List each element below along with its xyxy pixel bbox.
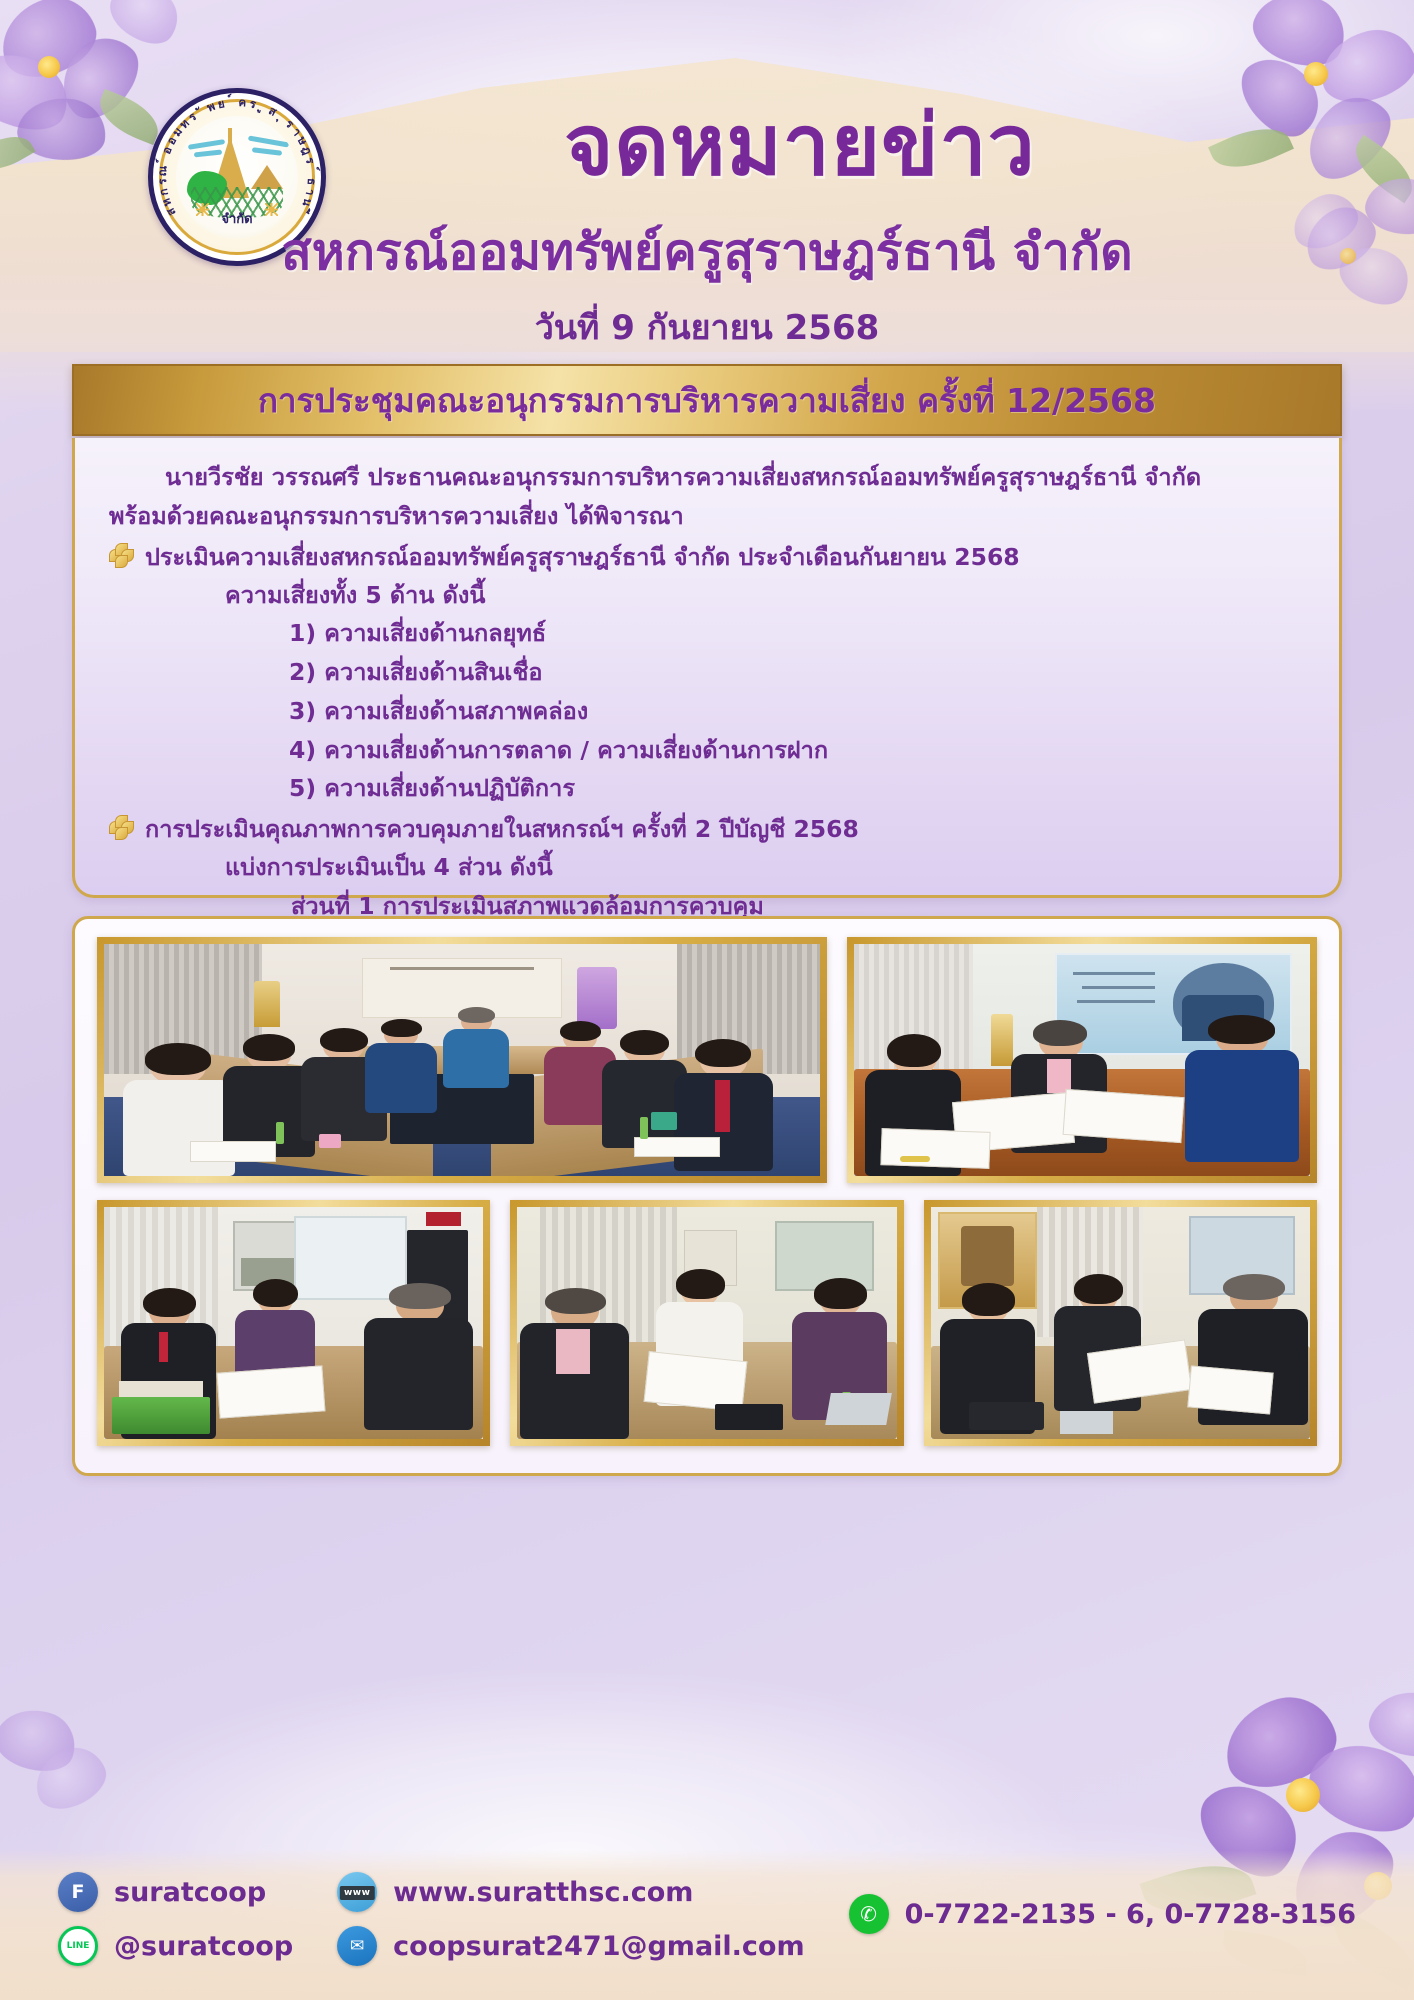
publication-date: วันที่ 9 กันยายน 2568: [80, 300, 1334, 354]
photo-review-right: [924, 1200, 1317, 1446]
website-url: www.suratthsc.com: [393, 1877, 693, 1908]
email-contact[interactable]: ✉ coopsurat2471@gmail.com: [337, 1926, 804, 1966]
risk-item: 3) ความเสี่ยงด้านสภาพคล่อง: [109, 692, 1305, 731]
logo-arc-char: ร: [248, 95, 258, 114]
risk-item: 2) ความเสี่ยงด้านสินเชื่อ: [109, 653, 1305, 692]
line-icon: LINE: [58, 1926, 98, 1966]
intro-line-1: นายวีรชัย วรรณศรี ประธานคณะอนุกรรมการบริ…: [109, 458, 1305, 497]
newsletter-page: จำกัด สหกรณ์ออมทรัพย์ครูสุราษฎร์ธานี สหก…: [0, 0, 1414, 2000]
risk-item: 1) ความเสี่ยงด้านกลยุทธ์: [109, 614, 1305, 653]
footer-contact-bar: F suratcoop LINE @suratcoop www www.sura…: [0, 1850, 1414, 2000]
phone-icon: ✆: [849, 1894, 889, 1934]
logo-arc-char: ค: [238, 94, 247, 113]
gold-diamond-bullet-icon: [109, 543, 135, 569]
telephone-contact[interactable]: ✆ 0-7722-2135 - 6, 0-7728-3156: [849, 1894, 1356, 1934]
logo-arc-char: ์: [156, 159, 174, 163]
photo-signing-desk: [847, 937, 1317, 1183]
facebook-contact[interactable]: F suratcoop: [58, 1872, 293, 1912]
logo-arc-char: ย: [216, 95, 226, 114]
logo-arc-char: ์: [231, 94, 232, 112]
headline-bar: การประชุมคณะอนุกรรมการบริหารความเสี่ยง ค…: [72, 364, 1342, 436]
headline-text: การประชุมคณะอนุกรรมการบริหารความเสี่ยง ค…: [258, 374, 1156, 427]
email-address: coopsurat2471@gmail.com: [393, 1931, 804, 1962]
logo-arc-char: ี: [294, 208, 310, 216]
logo-arc-char: น: [297, 195, 317, 209]
section-2-bullet-row: การประเมินคุณภาพการควบคุมภายในสหกรณ์ฯ คร…: [109, 810, 1305, 848]
organization-name: สหกรณ์ออมทรัพย์ครูสุราษฎร์ธานี จำกัด: [80, 222, 1334, 282]
logo-arc-char: ส: [265, 102, 280, 121]
photo-review-left: [97, 1200, 490, 1446]
facebook-icon: F: [58, 1872, 98, 1912]
globe-icon: www: [337, 1872, 377, 1912]
logo-arc-char: ณ: [154, 165, 173, 177]
gallery-row-top: [97, 937, 1317, 1183]
facebook-handle: suratcoop: [114, 1877, 266, 1908]
logo-arc-char: พ: [205, 98, 218, 118]
envelope-icon: ✉: [337, 1926, 377, 1966]
gold-diamond-bullet-icon: [109, 815, 135, 841]
section-1-bullet-row: ประเมินความเสี่ยงสหกรณ์ออมทรัพย์ครูสุราษ…: [109, 538, 1305, 576]
photo-gallery: [72, 916, 1342, 1476]
line-handle: @suratcoop: [114, 1931, 293, 1962]
www-label: www: [340, 1886, 374, 1900]
line-contact[interactable]: LINE @suratcoop: [58, 1926, 293, 1966]
section-2-heading: การประเมินคุณภาพการควบคุมภายในสหกรณ์ฯ คร…: [145, 810, 859, 848]
logo-arc-char: ู: [260, 99, 266, 116]
section-2-subheading: แบ่งการประเมินเป็น 4 ส่วน ดังนี้: [109, 848, 1305, 887]
footer-social-column: F suratcoop LINE @suratcoop: [58, 1872, 293, 1966]
risk-item: 5) ความเสี่ยงด้านปฏิบัติการ: [109, 769, 1305, 808]
section-1-subheading: ความเสี่ยงทั้ง 5 ด้าน ดังนี้: [109, 576, 1305, 615]
gallery-row-bottom: [97, 1200, 1317, 1446]
website-contact[interactable]: www www.suratthsc.com: [337, 1872, 804, 1912]
section-1-heading: ประเมินความเสี่ยงสหกรณ์ออมทรัพย์ครูสุราษ…: [145, 538, 1020, 576]
telephone-number: 0-7722-2135 - 6, 0-7728-3156: [905, 1899, 1356, 1930]
logo-arc-char: ร: [154, 178, 172, 185]
intro-line-2: พร้อมด้วยคณะอนุกรรมการบริหารความเสี่ยง ไ…: [109, 497, 1305, 536]
content-card: นายวีรชัย วรรณศรี ประธานคณะอนุกรรมการบริ…: [72, 438, 1342, 898]
risk-item: 4) ความเสี่ยงด้านการตลาด / ความเสี่ยงด้า…: [109, 731, 1305, 770]
footer-web-column: www www.suratthsc.com ✉ coopsurat2471@gm…: [337, 1872, 804, 1966]
page-title: จดหมายข่าว: [300, 98, 1300, 192]
logo-arc-char: ั: [197, 104, 206, 120]
footer-contact-grid: F suratcoop LINE @suratcoop www www.sura…: [58, 1872, 805, 1966]
photo-boardroom-wide: [97, 937, 827, 1183]
photo-review-center: [510, 1200, 903, 1446]
